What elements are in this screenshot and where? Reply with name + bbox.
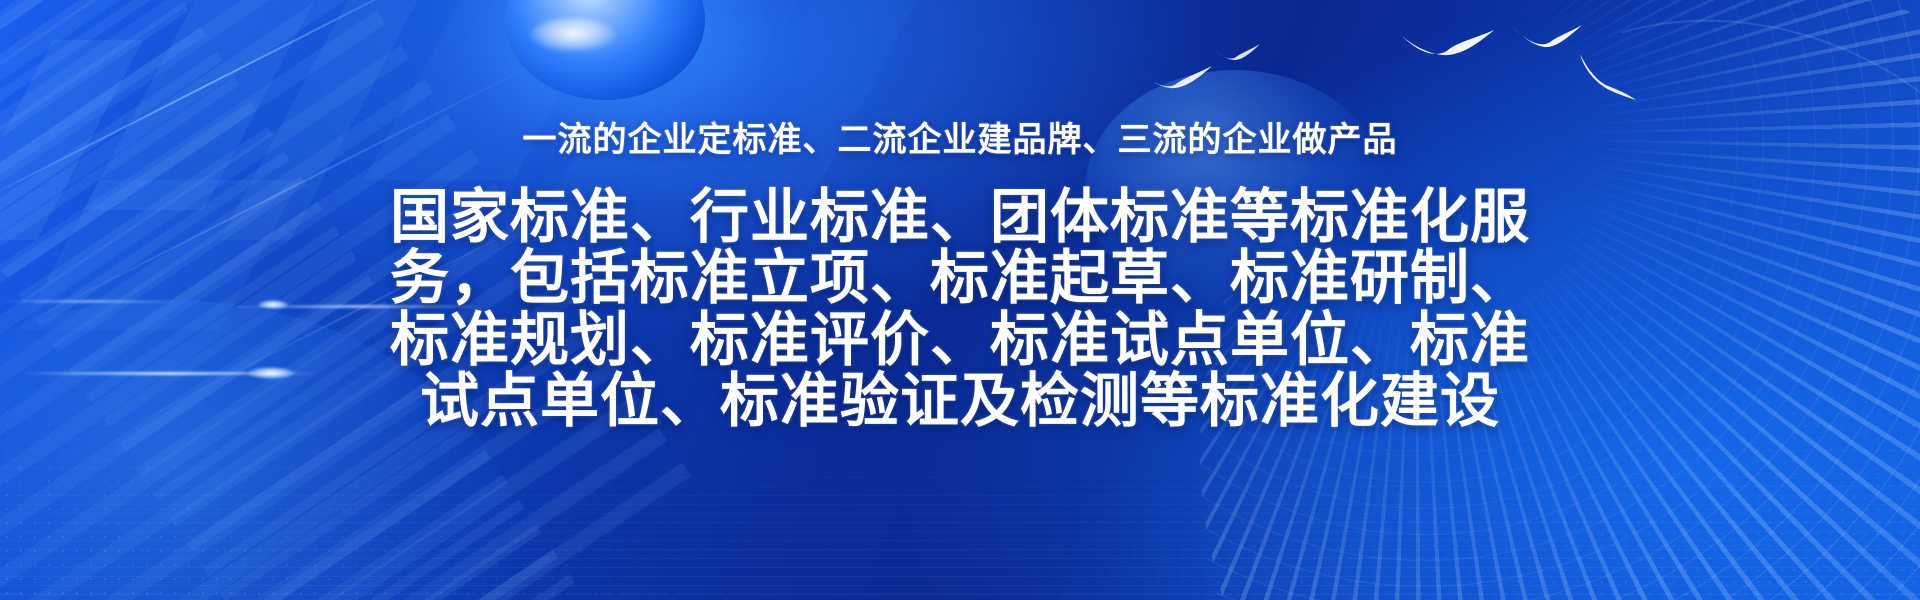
banner-body-text: 国家标准、行业标准、团体标准等标准化服 务，包括标准立项、标准起草、标准研制、 … [330, 187, 1590, 432]
banner-content: 一流的企业定标准、二流企业建品牌、三流的企业做产品 国家标准、行业标准、团体标准… [0, 0, 1920, 600]
banner-headline: 一流的企业定标准、二流企业建品牌、三流的企业做产品 [523, 112, 1398, 161]
banner-body-line: 试点单位、标准验证及检测等标准化建设 [330, 371, 1590, 432]
banner-body-line: 标准规划、标准评价、标准试点单位、标准 [330, 310, 1590, 371]
banner-body-line: 务，包括标准立项、标准起草、标准研制、 [330, 248, 1590, 309]
banner-body-line: 国家标准、行业标准、团体标准等标准化服 [330, 187, 1590, 248]
hero-banner: 一流的企业定标准、二流企业建品牌、三流的企业做产品 国家标准、行业标准、团体标准… [0, 0, 1920, 600]
